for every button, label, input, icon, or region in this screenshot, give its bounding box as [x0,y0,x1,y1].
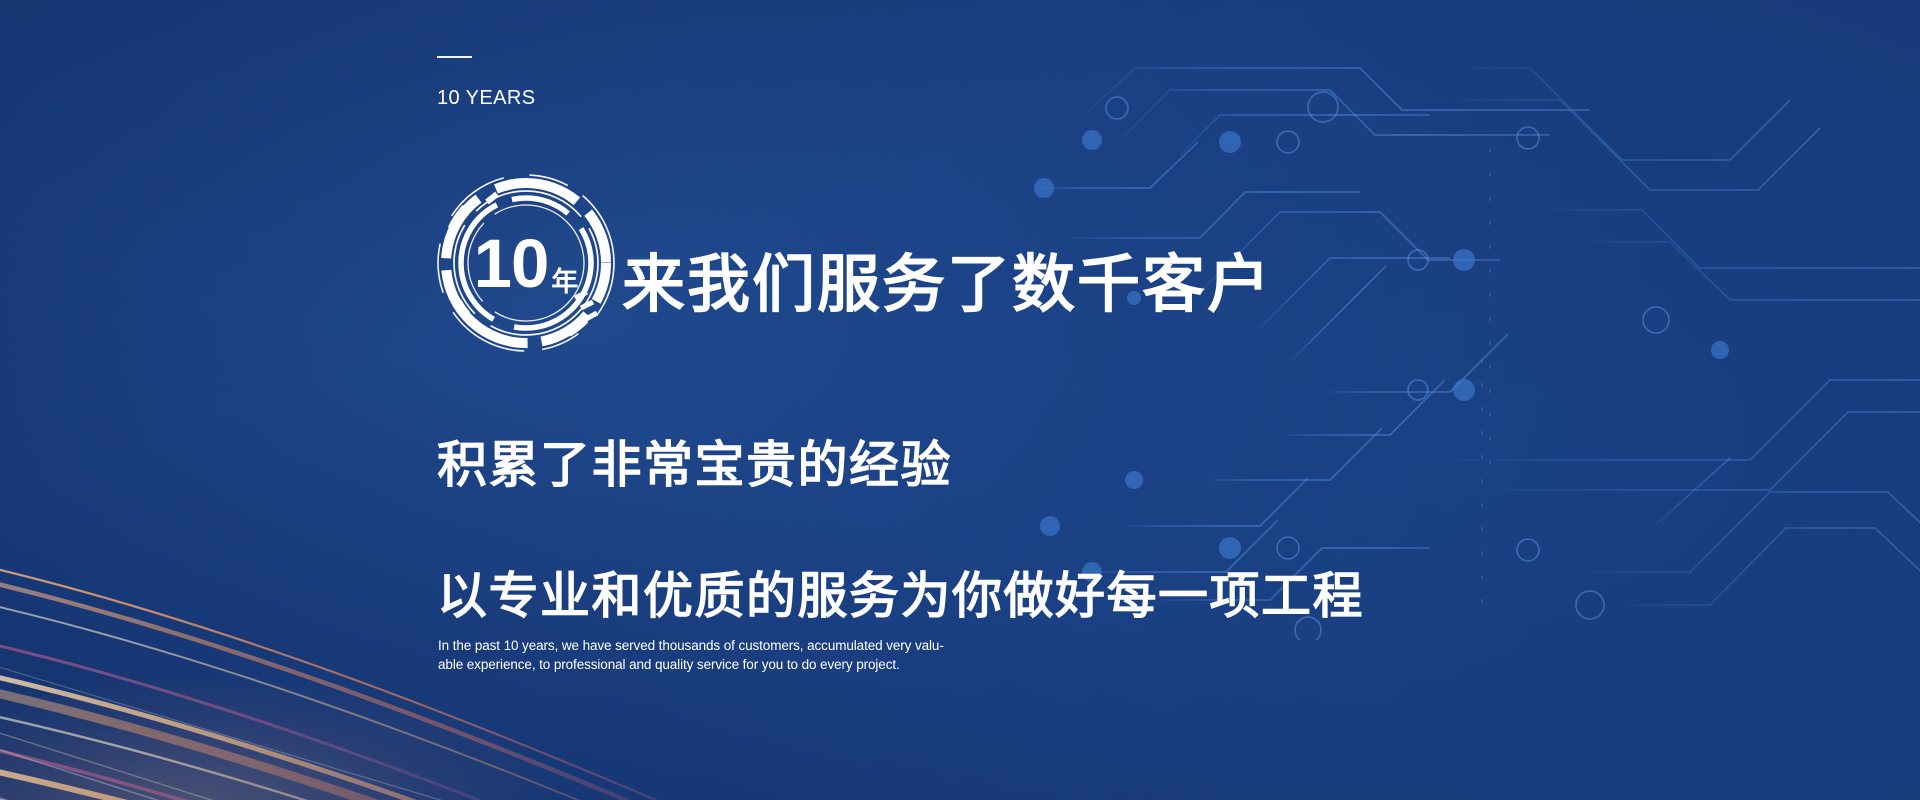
badge-unit: 年 [551,269,578,296]
headline-tertiary: 以专业和优质的服务为你做好每一项工程 [437,566,1364,627]
years-badge: 10 年 [435,172,617,354]
headline-secondary: 积累了非常宝贵的经验 [437,435,952,496]
eyebrow-divider-rule [437,56,472,58]
eyebrow-label: 10 YEARS [437,87,535,110]
content-column: 10 YEARS [437,0,1537,800]
banner-root: 10 YEARS [0,0,1920,800]
headline-primary: 来我们服务了数千客户 [622,247,1272,324]
badge-number: 10 [474,229,549,298]
subcopy-line-2: able experience, to professional and qua… [438,655,958,674]
subcopy-paragraph: In the past 10 years, we have served tho… [438,636,958,674]
subcopy-line-1: In the past 10 years, we have served tho… [438,636,958,655]
badge-text-wrap: 10 年 [435,172,617,354]
